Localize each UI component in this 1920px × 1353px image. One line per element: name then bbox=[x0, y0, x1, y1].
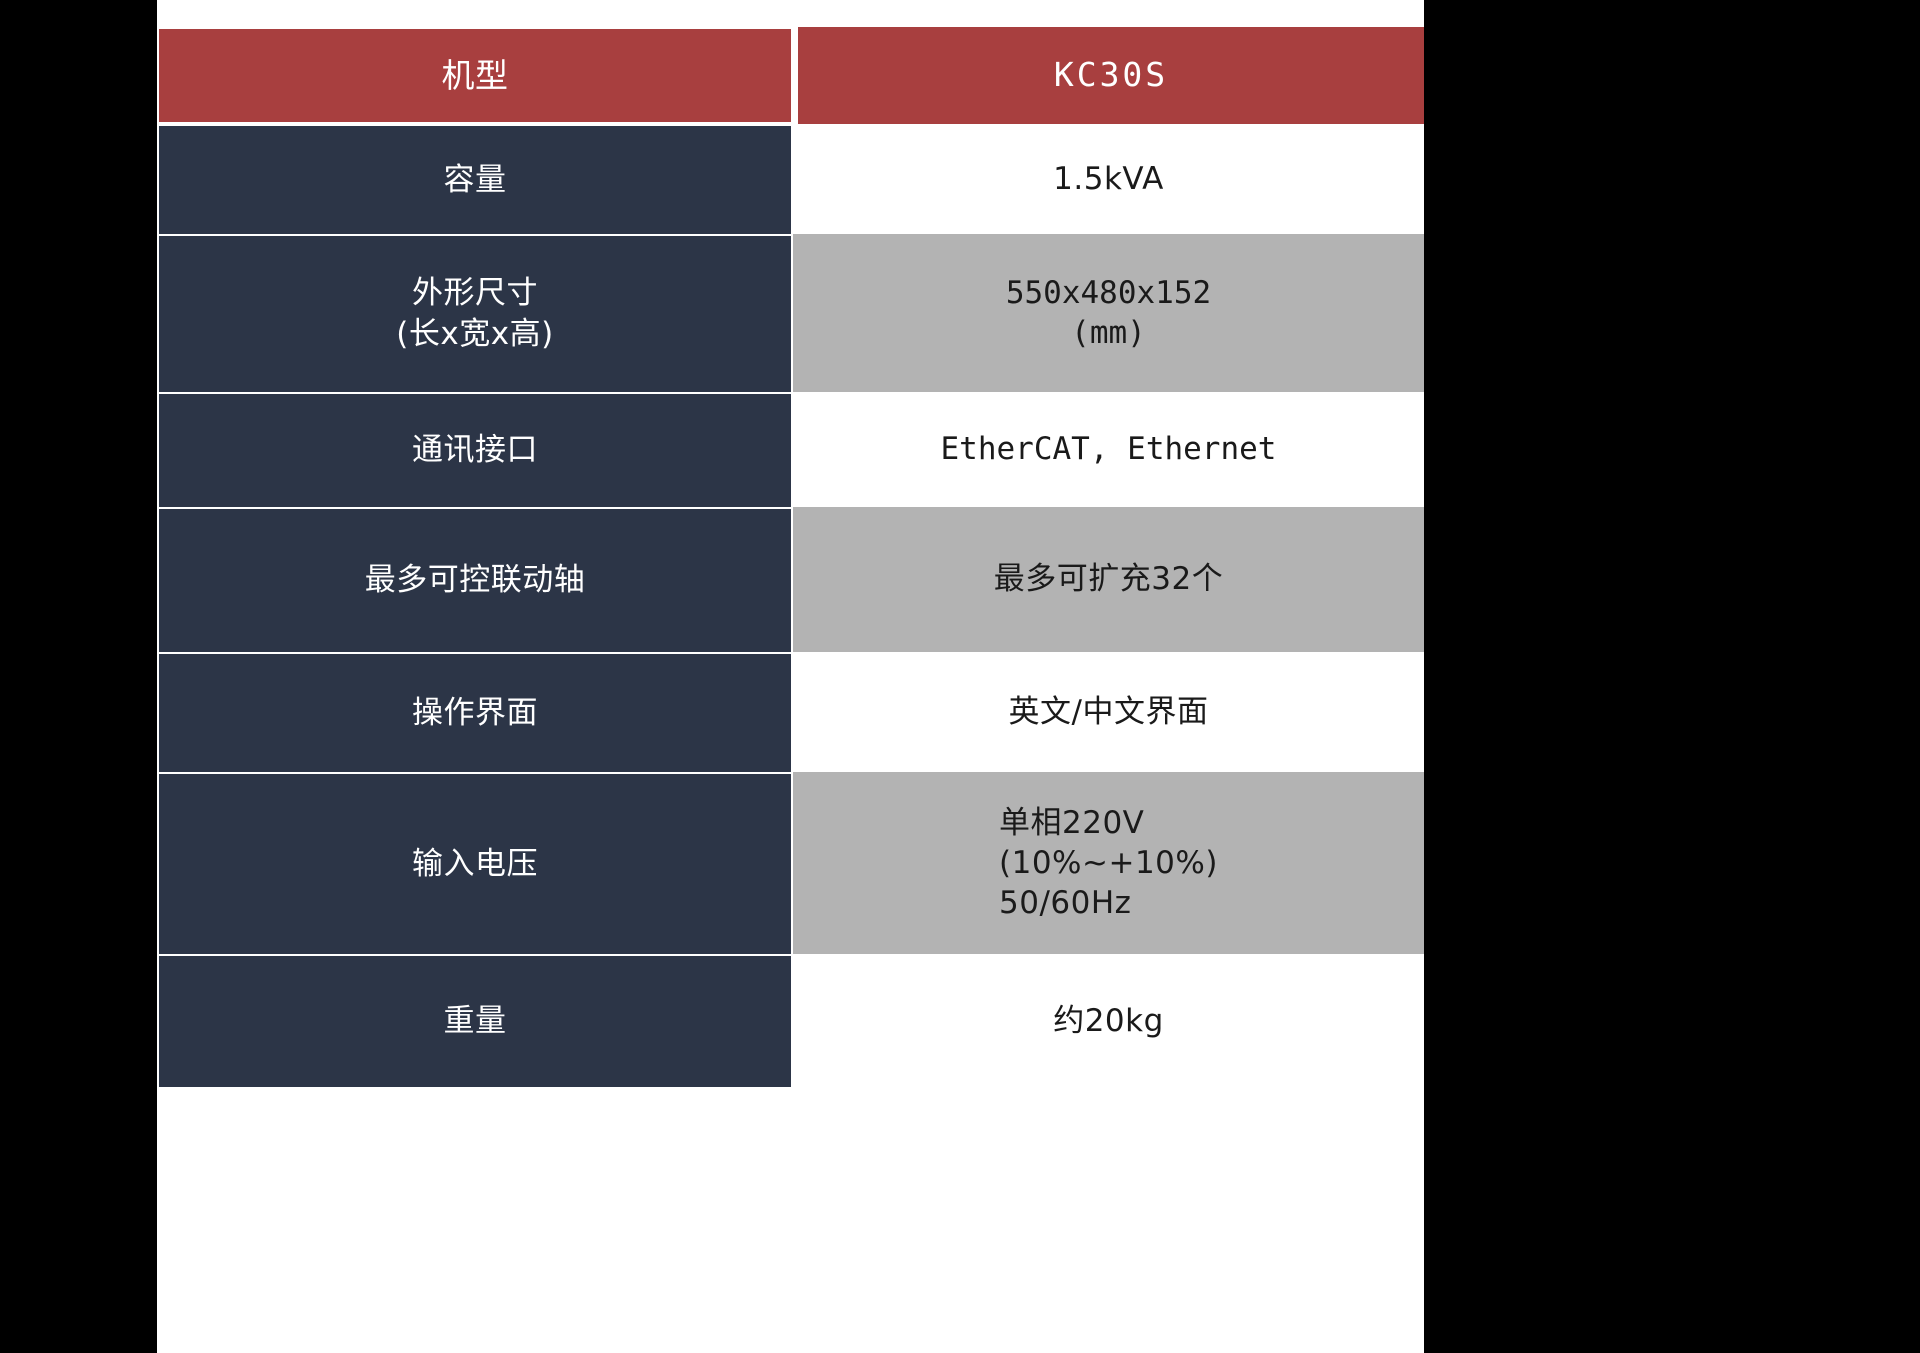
row-label-cell: 通讯接口 bbox=[157, 392, 793, 507]
row-value-text: 最多可扩充32个 bbox=[994, 559, 1223, 599]
table-row: 操作界面 英文/中文界面 bbox=[157, 652, 1424, 772]
row-label-text: 通讯接口 bbox=[412, 430, 538, 471]
table-row: 外形尺寸 (长x宽x高) 550x480x152 (mm) bbox=[157, 234, 1424, 392]
row-label-text: 最多可控联动轴 bbox=[365, 560, 586, 601]
header-value-text: KC30S bbox=[1054, 54, 1168, 97]
row-value-cell: EtherCAT, Ethernet bbox=[793, 392, 1424, 507]
row-value-text: 1.5kVA bbox=[1053, 159, 1164, 199]
row-value-cell: 单相220V (10%~+10%) 50/60Hz bbox=[793, 772, 1424, 954]
header-label-cell: 机型 bbox=[157, 27, 793, 124]
table-row: 重量 约20kg bbox=[157, 954, 1424, 1089]
header-label-text: 机型 bbox=[442, 54, 509, 98]
row-value-cell: 550x480x152 (mm) bbox=[793, 234, 1424, 392]
row-label-cell: 外形尺寸 (长x宽x高) bbox=[157, 234, 793, 392]
row-value-cell: 约20kg bbox=[793, 954, 1424, 1089]
row-label-text: 外形尺寸 (长x宽x高) bbox=[396, 273, 553, 355]
row-label-text: 操作界面 bbox=[412, 693, 538, 734]
row-value-cell: 1.5kVA bbox=[793, 124, 1424, 234]
spec-table: 机型 KC30S 容量 1.5kVA 外形尺寸 (长x宽x高) 550x480x… bbox=[157, 27, 1424, 1089]
row-label-cell: 输入电压 bbox=[157, 772, 793, 954]
page-root: 机型 KC30S 容量 1.5kVA 外形尺寸 (长x宽x高) 550x480x… bbox=[0, 0, 1920, 1353]
row-value-text: 550x480x152 (mm) bbox=[1006, 273, 1211, 354]
table-row: 容量 1.5kVA bbox=[157, 124, 1424, 234]
row-label-text: 重量 bbox=[444, 1001, 507, 1042]
row-label-cell: 重量 bbox=[157, 954, 793, 1089]
row-label-cell: 容量 bbox=[157, 124, 793, 234]
header-value-cell: KC30S bbox=[798, 27, 1424, 124]
row-label-cell: 操作界面 bbox=[157, 652, 793, 772]
table-row: 最多可控联动轴 最多可扩充32个 bbox=[157, 507, 1424, 652]
table-row: 输入电压 单相220V (10%~+10%) 50/60Hz bbox=[157, 772, 1424, 954]
row-value-text: 单相220V (10%~+10%) 50/60Hz bbox=[999, 803, 1218, 924]
table-row: 通讯接口 EtherCAT, Ethernet bbox=[157, 392, 1424, 507]
row-value-text: 英文/中文界面 bbox=[1009, 692, 1209, 732]
row-value-cell: 英文/中文界面 bbox=[793, 652, 1424, 772]
row-value-cell: 最多可扩充32个 bbox=[793, 507, 1424, 652]
row-value-text: EtherCAT, Ethernet bbox=[941, 429, 1277, 469]
row-label-cell: 最多可控联动轴 bbox=[157, 507, 793, 652]
row-value-text: 约20kg bbox=[1053, 1001, 1164, 1041]
table-header-row: 机型 KC30S bbox=[157, 27, 1424, 124]
row-label-text: 容量 bbox=[444, 160, 507, 201]
row-label-text: 输入电压 bbox=[412, 844, 538, 885]
